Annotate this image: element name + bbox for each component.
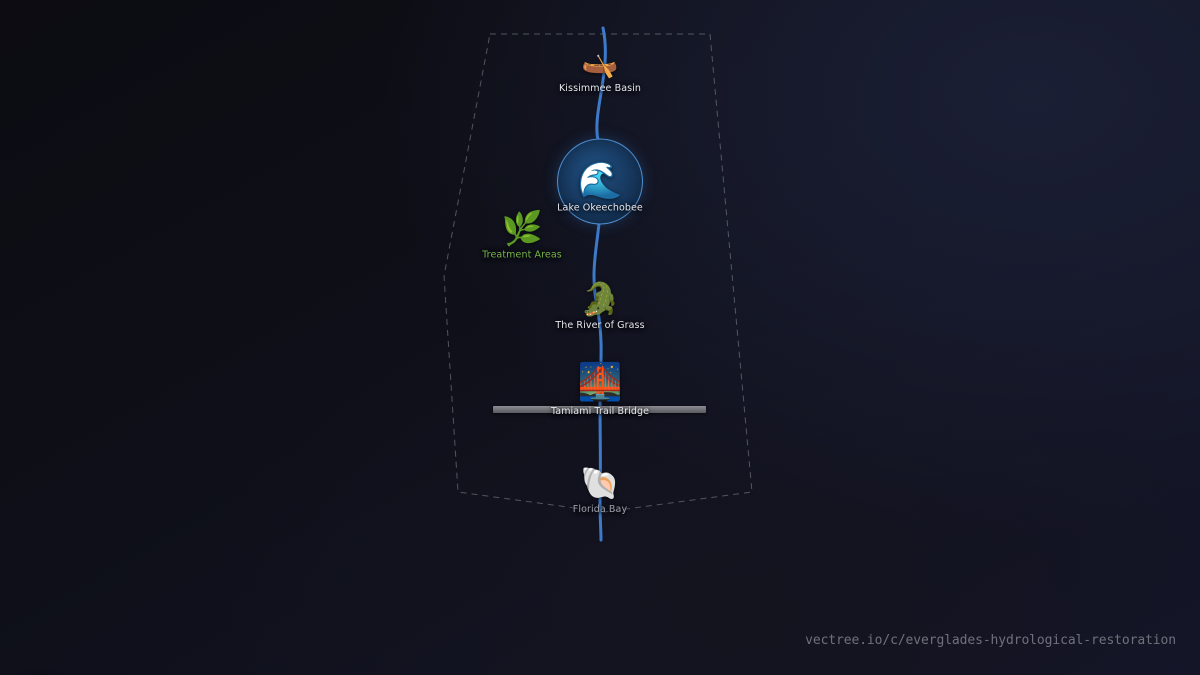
node-kissimmee-basin[interactable]: 🛶 Kissimmee Basin xyxy=(500,48,700,94)
node-treatment-areas[interactable]: 🌿 Treatment Areas xyxy=(422,212,622,261)
node-river-of-grass[interactable]: 🐊 The River of Grass xyxy=(500,283,700,331)
spiral-shell-icon: 🐚 xyxy=(580,467,620,499)
node-tamiami-trail-bridge[interactable]: 🌉 Tamiami Trail Bridge xyxy=(500,365,700,417)
node-label-tamiami-trail-bridge: Tamiami Trail Bridge xyxy=(551,406,649,417)
everglades-map-graph: 🛶 Kissimmee Basin 🌊 Lake Okeechobee 🌿 Tr… xyxy=(0,0,1200,675)
water-wave-icon: 🌊 xyxy=(578,164,623,200)
bridge-at-night-icon: 🌉 xyxy=(578,365,623,401)
site-url: vectree.io/c/everglades-hydrological-res… xyxy=(805,633,1176,648)
node-label-kissimmee-basin: Kissimmee Basin xyxy=(559,83,641,94)
node-lake-okeechobee[interactable]: 🌊 Lake Okeechobee xyxy=(500,139,700,214)
infographic-canvas: 🛶 Kissimmee Basin 🌊 Lake Okeechobee 🌿 Tr… xyxy=(0,0,1200,675)
node-florida-bay[interactable]: 🐚 Florida Bay xyxy=(500,467,700,515)
node-label-river-of-grass: The River of Grass xyxy=(555,320,644,331)
herb-leaf-icon: 🌿 xyxy=(501,212,542,245)
node-label-florida-bay: Florida Bay xyxy=(573,504,627,515)
crocodile-icon: 🐊 xyxy=(580,283,620,315)
canoe-icon: 🛶 xyxy=(581,48,618,78)
graph-svg xyxy=(0,0,1200,675)
node-label-treatment-areas: Treatment Areas xyxy=(482,250,562,261)
